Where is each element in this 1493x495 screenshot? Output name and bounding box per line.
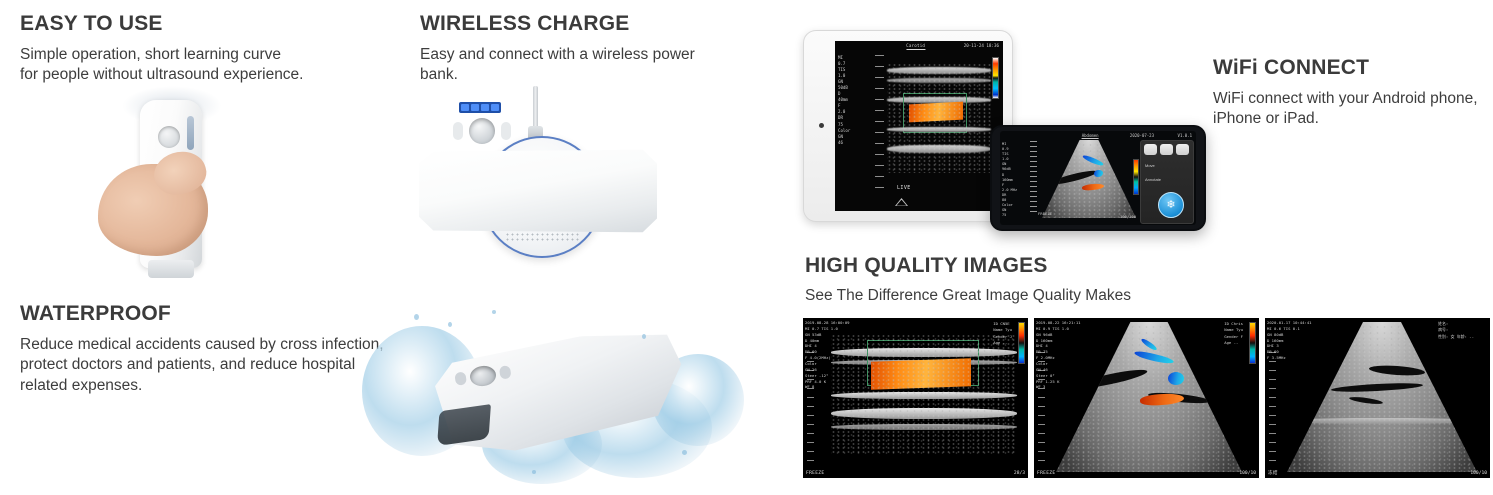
tablet-doppler-colorbar — [992, 57, 999, 99]
feature-body-wifi-connect: WiFi connect with your Android phone, iP… — [1213, 89, 1493, 130]
phone-device-mockup: Abdomen 2020-07-23 V1.0.1 MI 0.9 TIS 1.0… — [990, 125, 1206, 231]
feature-body-line: bank. — [420, 65, 750, 85]
shot-patient-meta: ID CN5E Name Tyu Gender J Age -- — [993, 321, 1012, 346]
gallery-header: HIGH QUALITY IMAGES See The Difference G… — [805, 254, 1225, 306]
meta-age: Age -- — [1224, 340, 1243, 346]
shot-freeze-label: FREEZE — [1037, 471, 1055, 476]
meta-gender: Gender F — [1224, 334, 1243, 340]
probe-lens-icon — [469, 118, 495, 144]
snowflake-icon[interactable]: ❄ — [1158, 192, 1184, 218]
shot-parameter-list: 2020-01-17 10:44:41 MI 0.6 TIS 0.1 GN 80… — [1267, 320, 1311, 361]
battery-indicator-leds — [459, 102, 501, 113]
meta-name: Name Tyu — [993, 327, 1012, 333]
water-droplet — [642, 334, 646, 339]
phone-control-button[interactable] — [1144, 144, 1157, 155]
feature-easy-to-use: EASY TO USE Simple operation, short lear… — [20, 12, 380, 86]
tablet-preset-label: Carotid — [906, 43, 925, 50]
probe-indicator-light — [187, 116, 194, 150]
water-droplet — [682, 450, 687, 455]
gallery-item-abdomen-doppler[interactable]: 2019-08-22 16:21:11 MI 0.9 TIS 1.0 GN 96… — [1034, 318, 1259, 478]
phone-control-button[interactable] — [1160, 144, 1173, 155]
feature-body-line: Simple operation, short learning curve — [20, 45, 380, 65]
water-droplet — [532, 470, 536, 474]
gallery-title: HIGH QUALITY IMAGES — [805, 254, 1225, 278]
feature-body-line: WiFi connect with your Android phone, — [1213, 89, 1493, 109]
phone-control-panel: Move Annotate ❄ — [1140, 140, 1194, 224]
param: 46 — [838, 140, 872, 146]
shot-patient-meta: 姓名: 病号: 性别: 女 年龄: -- — [1438, 321, 1474, 340]
phone-datetime: 2020-07-23 — [1130, 133, 1154, 138]
shot-scan-area — [831, 334, 1017, 454]
scan-speckle-texture — [831, 334, 1017, 454]
tablet-parameter-list: MI 0.7 TIS 1.0 GN 50dB D 40mm F 2.0 DR 7… — [838, 55, 872, 146]
gallery-subtitle: See The Difference Great Image Quality M… — [805, 286, 1225, 306]
feature-body-wireless-charge: Easy and connect with a wireless power b… — [420, 45, 750, 86]
scan-speckle-texture — [1287, 322, 1477, 472]
shot-scan-area — [1056, 322, 1242, 472]
shot-datetime: 2020-01-17 10:44:41 — [1267, 320, 1311, 326]
shot-parameter-list: 2019-08-28 16:00:09 MI 0.7 TIS 1.0 GN 53… — [805, 320, 849, 390]
phone-freeze-label: FREEZE — [1038, 212, 1052, 216]
feature-body-line: iPhone or iPad. — [1213, 109, 1493, 129]
water-droplet — [414, 314, 419, 320]
handheld-probe-photo — [92, 92, 282, 282]
feature-body-easy-to-use: Simple operation, short learning curve f… — [20, 45, 380, 86]
feature-title-easy-to-use: EASY TO USE — [20, 12, 380, 36]
tablet-scan-area — [887, 63, 991, 173]
tablet-device-mockup: Carotid 20-11-24 18:36 MI 0.7 TIS 1.0 GN… — [803, 30, 1013, 222]
shot-patient-meta: ID Chris Name Tyu Gender F Age -- — [1224, 321, 1243, 346]
gallery-item-abdomen-bmode[interactable]: 2020-01-17 10:44:41 MI 0.6 TIS 0.1 GN 80… — [1265, 318, 1490, 478]
feature-wifi-connect: WiFi CONNECT WiFi connect with your Andr… — [1213, 56, 1493, 130]
param: 75 — [1002, 213, 1028, 218]
probe-on-pad — [419, 148, 657, 234]
shot-freeze-label: 冻结 — [1268, 470, 1278, 476]
led-segment — [481, 104, 489, 111]
phone-menu-item-move[interactable]: Move — [1145, 163, 1155, 168]
meta-name: Name Tyu — [1224, 327, 1243, 333]
tissue-band — [1287, 418, 1477, 424]
param: WF 8 — [805, 384, 849, 390]
tablet-home-button[interactable] — [819, 123, 824, 128]
water-droplet — [492, 310, 496, 314]
wireless-charging-photo — [415, 86, 660, 261]
feature-title-wifi-connect: WiFi CONNECT — [1213, 56, 1493, 80]
shot-doppler-colorbar — [1018, 322, 1025, 364]
led-segment — [461, 104, 469, 111]
shot-datetime: 2019-08-28 16:00:09 — [805, 320, 849, 326]
shot-datetime: 2019-08-22 16:21:11 — [1036, 320, 1080, 326]
phone-control-button[interactable] — [1176, 144, 1189, 155]
phone-doppler-colorbar — [1133, 159, 1139, 195]
scan-speckle-texture — [1042, 140, 1136, 218]
shot-frame-index: 28/3 — [1014, 471, 1025, 476]
tablet-live-label: LIVE — [897, 185, 911, 191]
shot-scan-area — [1287, 322, 1477, 472]
phone-depth-ruler — [1030, 141, 1037, 215]
tablet-ultrasound-screen[interactable]: Carotid 20-11-24 18:36 MI 0.7 TIS 1.0 GN… — [835, 41, 1003, 211]
shot-parameter-list: 2019-08-22 16:21:11 MI 0.9 TIS 1.0 GN 96… — [1036, 320, 1080, 390]
tablet-probe-marker-icon — [895, 198, 908, 206]
shot-freeze-label: FREEZE — [806, 471, 824, 476]
waterproof-splash-photo — [352, 300, 752, 495]
led-segment — [471, 104, 479, 111]
water-droplet — [448, 322, 452, 327]
param: F 3.5MHz — [1267, 355, 1311, 361]
probe-lens-icon — [158, 126, 180, 148]
doppler-flow-blue — [1168, 372, 1184, 385]
led-segment — [491, 104, 499, 111]
ultrasound-image-gallery: 2019-08-28 16:00:09 MI 0.7 TIS 1.0 GN 53… — [803, 318, 1493, 482]
tablet-datetime: 20-11-24 18:36 — [964, 43, 999, 48]
param: WF 3 — [1036, 384, 1080, 390]
meta-gender: Gender J — [993, 334, 1012, 340]
feature-title-wireless-charge: WIRELESS CHARGE — [420, 12, 750, 36]
phone-version: V1.0.1 — [1178, 133, 1192, 138]
phone-frame-ratio: 100/100 — [1120, 214, 1136, 219]
meta-age: Age -- — [993, 340, 1012, 346]
phone-parameter-list: MI 0.9 TIS 1.0 GN 96dB D 160mm F 2.0 MHz… — [1002, 142, 1028, 218]
feature-body-line: for people without ultrasound experience… — [20, 65, 380, 85]
phone-menu-item-annotate[interactable]: Annotate — [1145, 177, 1161, 182]
phone-status-bar: Abdomen 2020-07-23 V1.0.1 — [1000, 132, 1196, 140]
gallery-item-carotid-doppler[interactable]: 2019-08-28 16:00:09 MI 0.7 TIS 1.0 GN 53… — [803, 318, 1028, 478]
phone-ultrasound-screen[interactable]: Abdomen 2020-07-23 V1.0.1 MI 0.9 TIS 1.0… — [1000, 131, 1196, 225]
feature-body-line: Easy and connect with a wireless power — [420, 45, 750, 65]
tablet-depth-ruler — [875, 55, 884, 195]
phone-preset-label: Abdomen — [1082, 133, 1099, 139]
shot-frame-index: 100/10 — [1470, 471, 1487, 476]
phone-top-button-row — [1144, 144, 1189, 155]
tablet-status-bar: Carotid 20-11-24 18:36 — [835, 41, 1003, 52]
shot-frame-index: 100/10 — [1239, 471, 1256, 476]
phone-scan-area — [1042, 140, 1136, 218]
feature-wireless-charge: WIRELESS CHARGE Easy and connect with a … — [420, 12, 750, 86]
shot-doppler-colorbar — [1249, 322, 1256, 364]
scan-speckle-texture — [887, 63, 991, 173]
meta-gender-age: 性别: 女 年龄: -- — [1438, 334, 1474, 340]
shot-depth-ruler — [1269, 352, 1276, 464]
